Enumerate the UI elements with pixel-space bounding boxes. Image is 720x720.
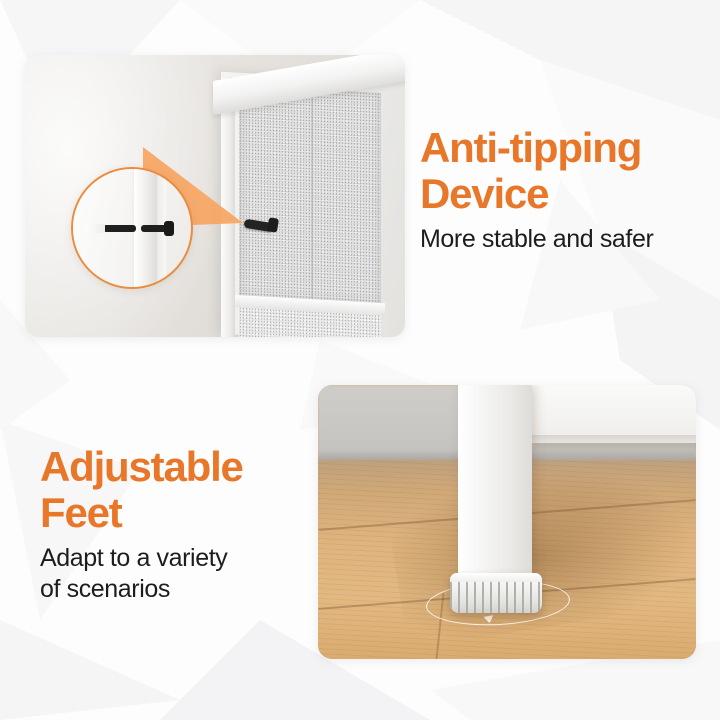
anti-tipping-heading-line-1: Anti-tipping bbox=[420, 125, 712, 171]
adjustable-feet-heading-line-2: Feet bbox=[40, 490, 310, 536]
adjustable-feet-subtitle: Adapt to a variety of scenarios bbox=[40, 543, 310, 605]
anti-tipping-heading: Anti-tipping Device bbox=[420, 125, 712, 217]
adjustable-feet-subtitle-line-2: of scenarios bbox=[40, 574, 310, 605]
adjustable-foot-ribs bbox=[450, 580, 542, 613]
wall-anchor-screw bbox=[103, 225, 136, 232]
furniture-apron bbox=[532, 385, 696, 441]
adjustable-foot bbox=[450, 573, 542, 613]
adjustable-feet-heading-line-1: Adjustable bbox=[40, 444, 310, 490]
anti-tipping-text-block: Anti-tipping Device More stable and safe… bbox=[420, 125, 712, 255]
furniture-leg bbox=[458, 385, 532, 581]
anti-tipping-subtitle: More stable and safer bbox=[420, 224, 712, 255]
adjustable-feet-subtitle-line-1: Adapt to a variety bbox=[40, 543, 310, 574]
furniture-apron-underside bbox=[532, 435, 696, 443]
adjustable-foot-collar bbox=[450, 573, 542, 582]
adjustable-feet-text-block: Adjustable Feet Adapt to a variety of sc… bbox=[40, 444, 310, 605]
anti-tipping-heading-line-2: Device bbox=[420, 171, 712, 217]
adjustable-feet-heading: Adjustable Feet bbox=[40, 444, 310, 536]
cabinet-anchor-screw bbox=[141, 225, 167, 232]
adjustable-feet-photo bbox=[318, 385, 696, 659]
anti-tipping-device-photo bbox=[25, 55, 405, 337]
infographic-canvas: Anti-tipping Device More stable and safe… bbox=[0, 0, 720, 720]
magnifier-circle bbox=[71, 167, 193, 289]
